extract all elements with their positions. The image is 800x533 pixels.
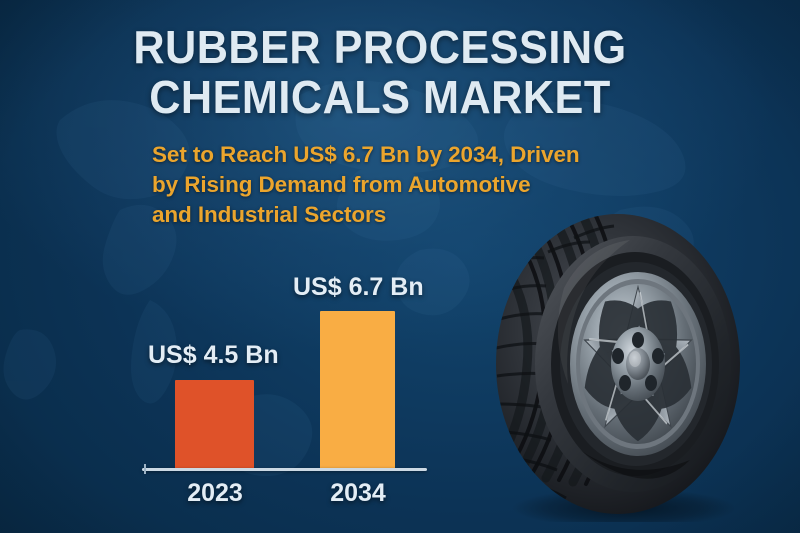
bar-2023 [175, 380, 254, 470]
bar-value-label-2023: US$ 4.5 Bn [148, 341, 279, 369]
bar-value-label-2034: US$ 6.7 Bn [293, 273, 424, 301]
chart-axis-tick [144, 464, 146, 474]
category-label-2023: 2023 [160, 478, 270, 508]
car-tire-image [492, 212, 760, 522]
infographic-canvas: RUBBER PROCESSING CHEMICALS MARKET Set t… [0, 0, 800, 533]
category-label-2034: 2034 [303, 478, 413, 508]
chart-axis-line [142, 468, 427, 471]
bar-chart: US$ 4.5 Bn US$ 6.7 Bn 2023 2034 [0, 0, 460, 533]
bar-2034 [320, 311, 395, 470]
